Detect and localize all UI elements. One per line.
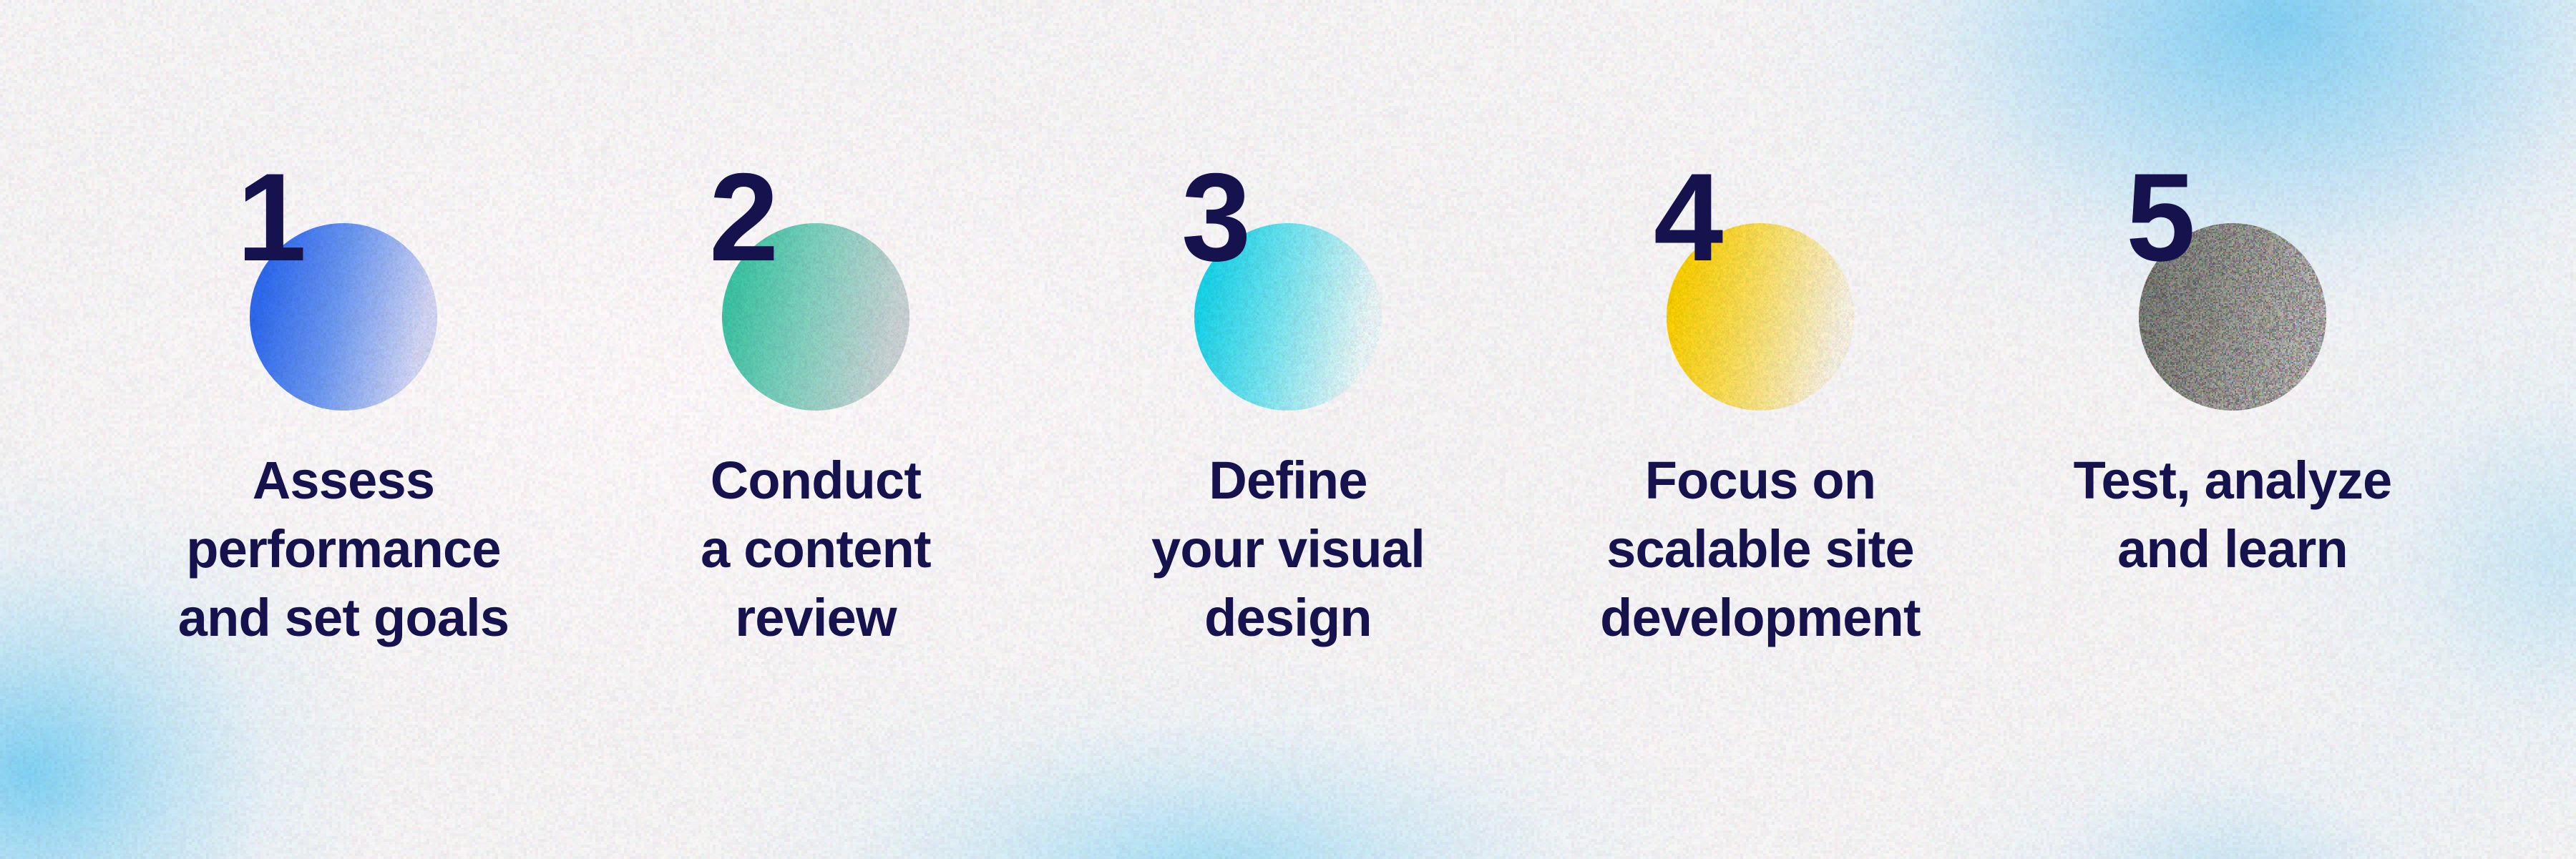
step-item-4: 4 Focus on scalable site development (1524, 223, 1996, 653)
step-caption-4: Focus on scalable site development (1600, 446, 1921, 653)
step-caption-1: Assess performance and set goals (178, 446, 509, 653)
step-item-2: 2 Conduct a content review (580, 223, 1052, 653)
step-number-1: 1 (237, 155, 303, 280)
step-item-5: 5 Test, analyze and learn (1996, 223, 2469, 584)
step-item-3: 3 Define your visual design (1052, 223, 1524, 653)
step-number-4: 4 (1654, 155, 1720, 280)
step-bubble-1: 1 (250, 223, 437, 411)
step-number-2: 2 (709, 155, 776, 280)
step-caption-3: Define your visual design (1151, 446, 1425, 653)
step-bubble-4: 4 (1667, 223, 1854, 411)
step-bubble-2: 2 (722, 223, 909, 411)
infographic-canvas: 1 Assess performance and set goals 2 Con… (0, 0, 2576, 859)
step-bubble-5: 5 (2139, 223, 2326, 411)
step-bubble-3: 3 (1194, 223, 1382, 411)
step-caption-5: Test, analyze and learn (2074, 446, 2392, 584)
step-caption-2: Conduct a content review (701, 446, 931, 653)
step-number-5: 5 (2126, 155, 2192, 280)
steps-row: 1 Assess performance and set goals 2 Con… (0, 0, 2576, 859)
step-item-1: 1 Assess performance and set goals (107, 223, 580, 653)
step-number-3: 3 (1181, 155, 1248, 280)
